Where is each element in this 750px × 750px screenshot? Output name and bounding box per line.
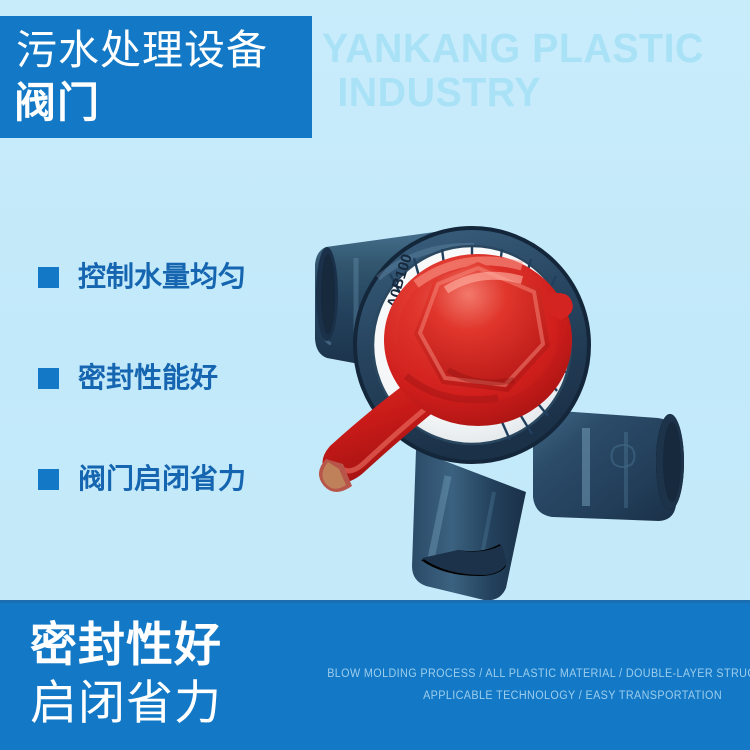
header-product-label: 阀门 <box>14 82 100 124</box>
feature-item-1: 控制水量均匀 <box>38 262 246 292</box>
feature-list: 控制水量均匀 密封性能好 阀门启闭省力 <box>38 262 246 494</box>
valve-port-bottom <box>412 450 526 600</box>
brand-watermark-line1: YANKANG PLASTIC <box>322 26 735 70</box>
square-bullet-icon <box>38 469 59 490</box>
header-badge: 污水处理设备 阀门 <box>0 16 312 138</box>
product-image-three-way-valve: B100 A0 A100 B0 <box>296 200 708 600</box>
feature-item-2: 密封性能好 <box>38 363 246 393</box>
footer-english-text: BLOW MOLDING PROCESS / ALL PLASTIC MATER… <box>327 663 722 707</box>
feature-item-3-label: 阀门启闭省力 <box>78 464 246 494</box>
brand-watermark-line2: INDUSTRY <box>322 70 735 114</box>
footer-banner: 密封性好 启闭省力 BLOW MOLDING PROCESS / ALL PLA… <box>0 600 750 750</box>
header-category-label: 污水处理设备 <box>16 30 268 71</box>
brand-watermark: YANKANG PLASTIC INDUSTRY <box>322 26 735 114</box>
square-bullet-icon <box>38 267 59 288</box>
feature-item-1-label: 控制水量均匀 <box>78 262 246 292</box>
footer-headline-bold: 密封性好 <box>30 621 222 668</box>
footer-english-line2: APPLICABLE TECHNOLOGY / EASY TRANSPORTAT… <box>327 685 722 707</box>
footer-english-line1: BLOW MOLDING PROCESS / ALL PLASTIC MATER… <box>327 663 722 685</box>
footer-headline-light: 启闭省力 <box>30 679 222 726</box>
feature-item-2-label: 密封性能好 <box>78 363 218 393</box>
square-bullet-icon <box>38 368 59 389</box>
product-banner: 污水处理设备 阀门 YANKANG PLASTIC INDUSTRY 控制水量均… <box>0 0 750 750</box>
feature-item-3: 阀门启闭省力 <box>38 464 246 494</box>
